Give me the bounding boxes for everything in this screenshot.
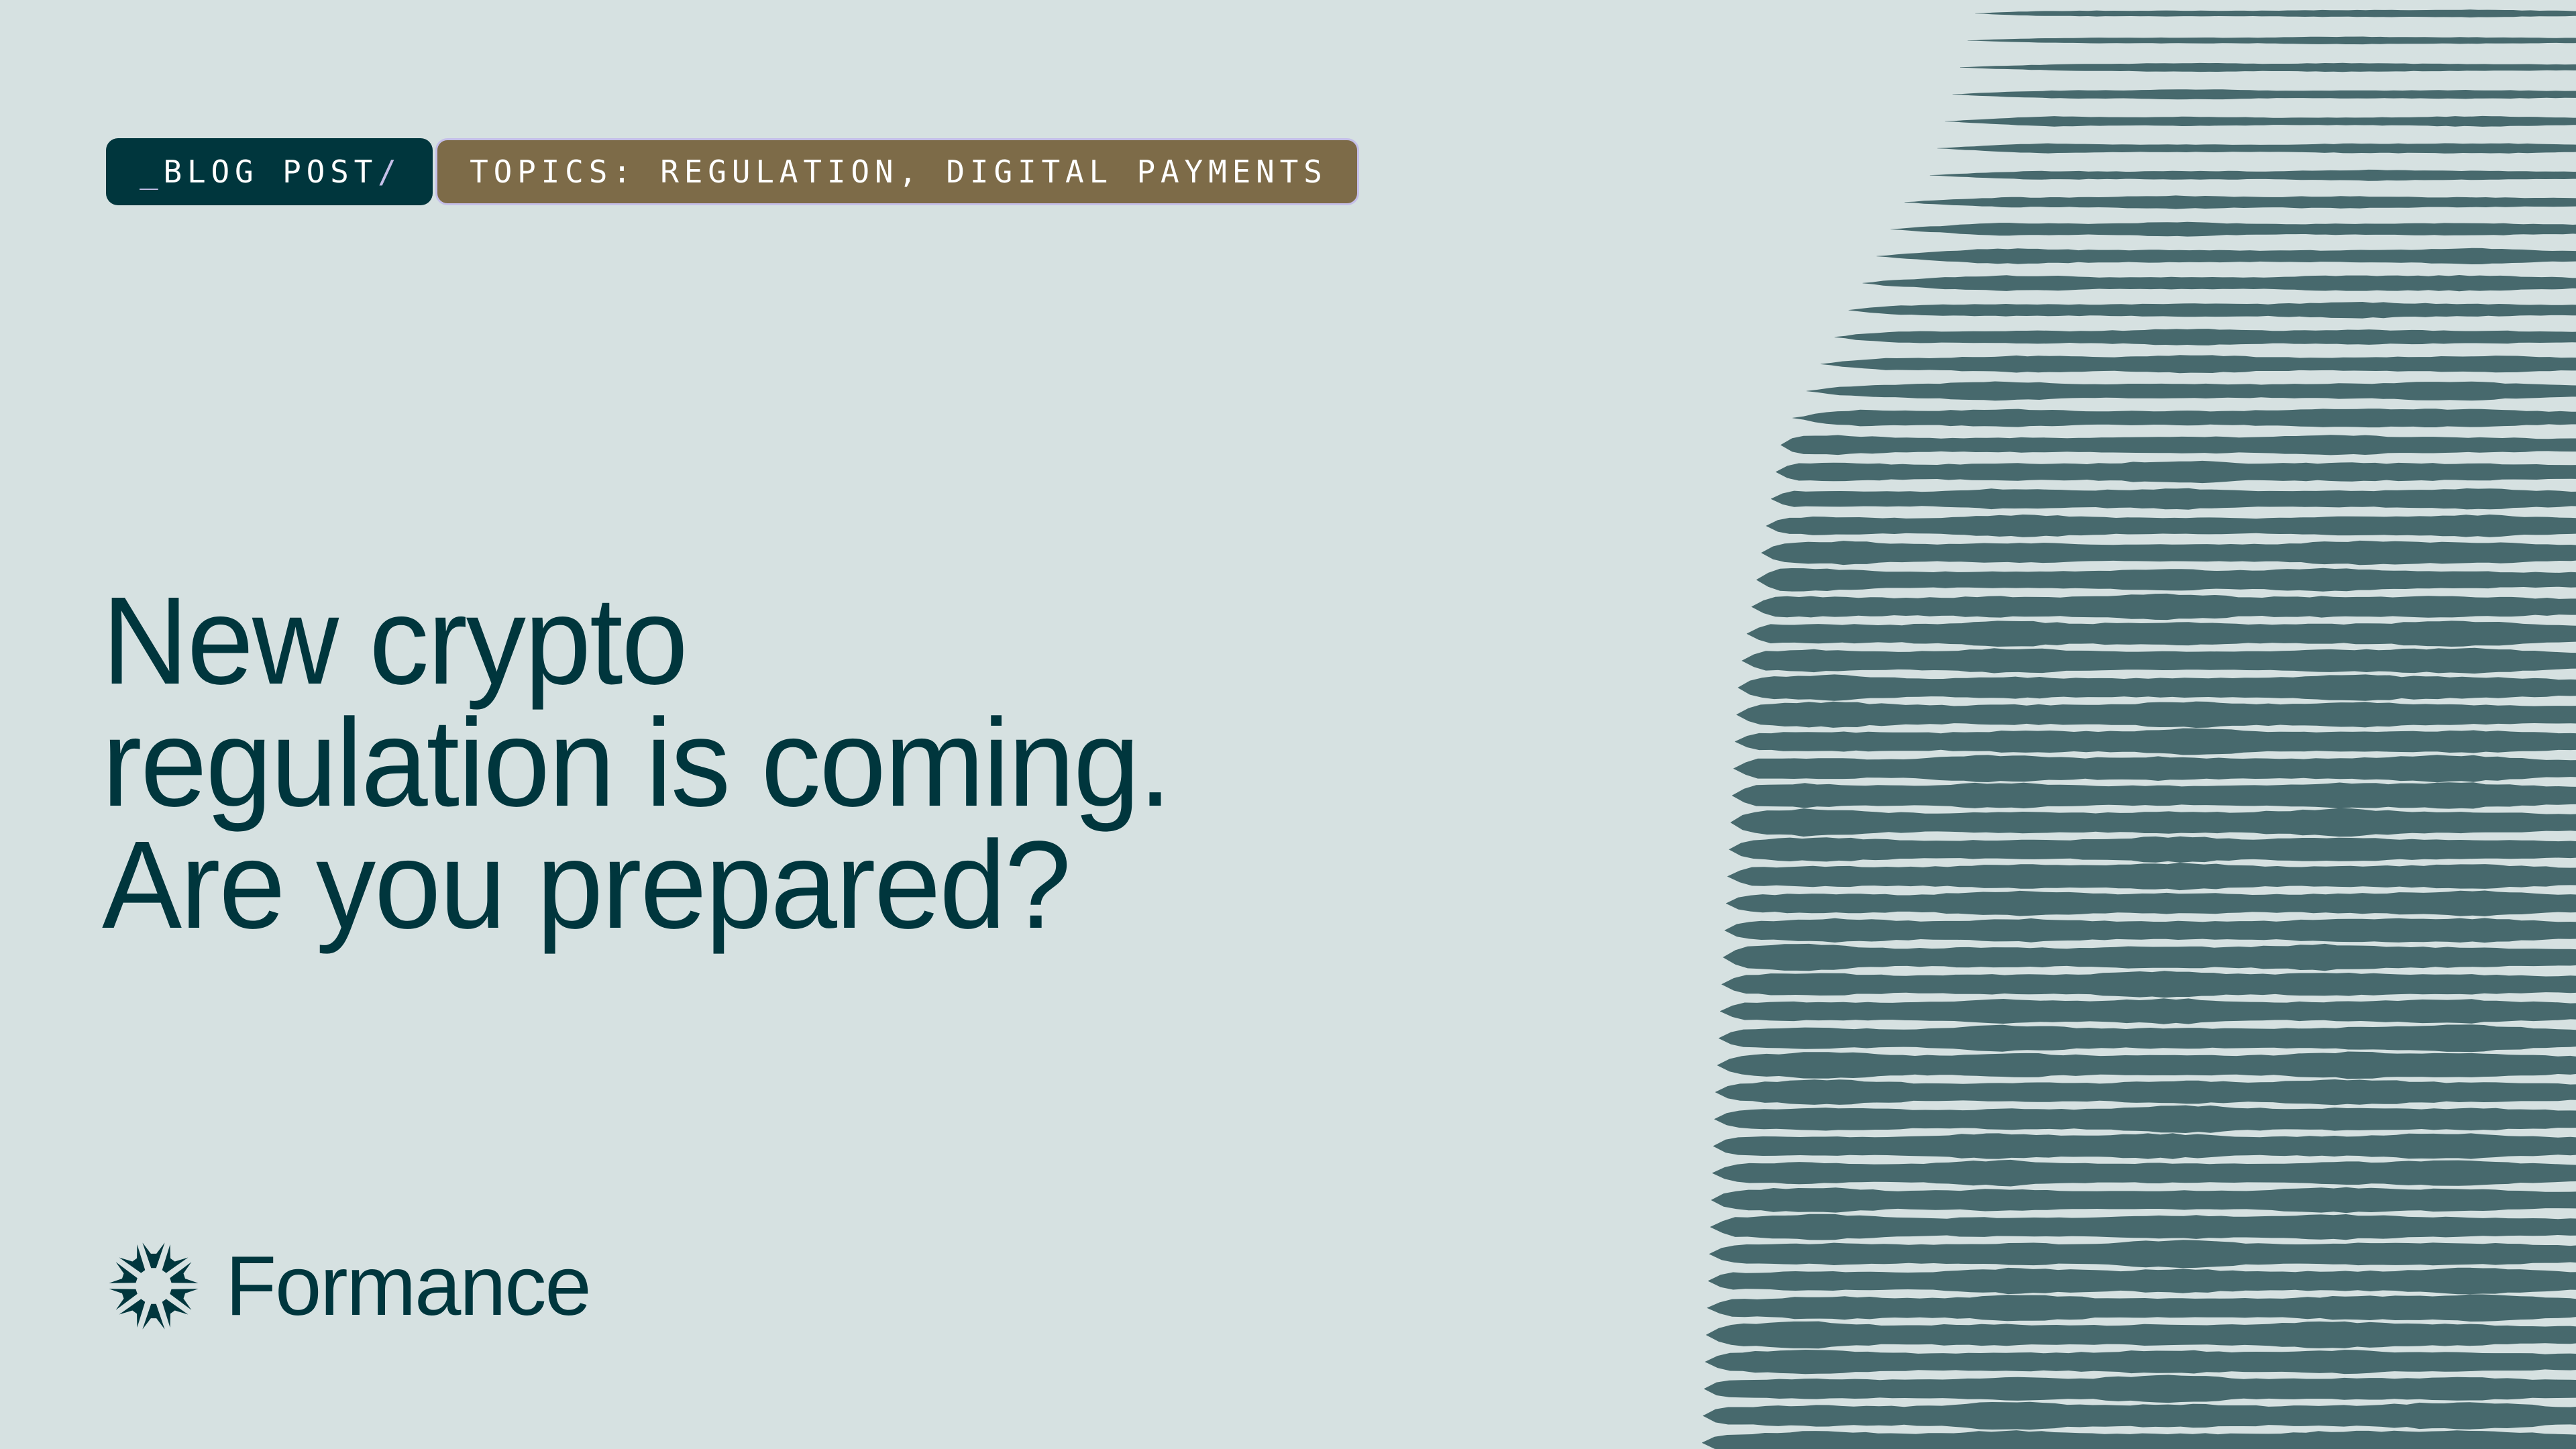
stripe-artwork <box>1664 0 2576 1449</box>
formance-burst-icon <box>106 1238 201 1334</box>
topics-badge-label: TOPICS: REGULATION, DIGITAL PAYMENTS <box>470 154 1328 190</box>
headline-line-1: New crypto <box>102 580 1583 702</box>
blog-post-badge[interactable]: _BLOG POST/ <box>106 138 433 205</box>
headline-line-2: regulation is coming. <box>102 702 1583 824</box>
formance-wordmark: Formance <box>225 1244 590 1328</box>
blog-post-cover: _BLOG POST/ TOPICS: REGULATION, DIGITAL … <box>0 0 2576 1449</box>
badge-group: _BLOG POST/ TOPICS: REGULATION, DIGITAL … <box>106 107 1359 205</box>
badge-label: BLOG POST <box>164 154 378 190</box>
topics-badge[interactable]: TOPICS: REGULATION, DIGITAL PAYMENTS <box>435 138 1359 205</box>
headline-line-3: Are you prepared? <box>102 824 1583 947</box>
badge-suffix: / <box>378 154 402 190</box>
formance-logo[interactable]: Formance <box>106 1238 594 1334</box>
badge-prefix: _ <box>140 154 164 190</box>
page-title: New crypto regulation is coming. Are you… <box>102 580 1583 947</box>
